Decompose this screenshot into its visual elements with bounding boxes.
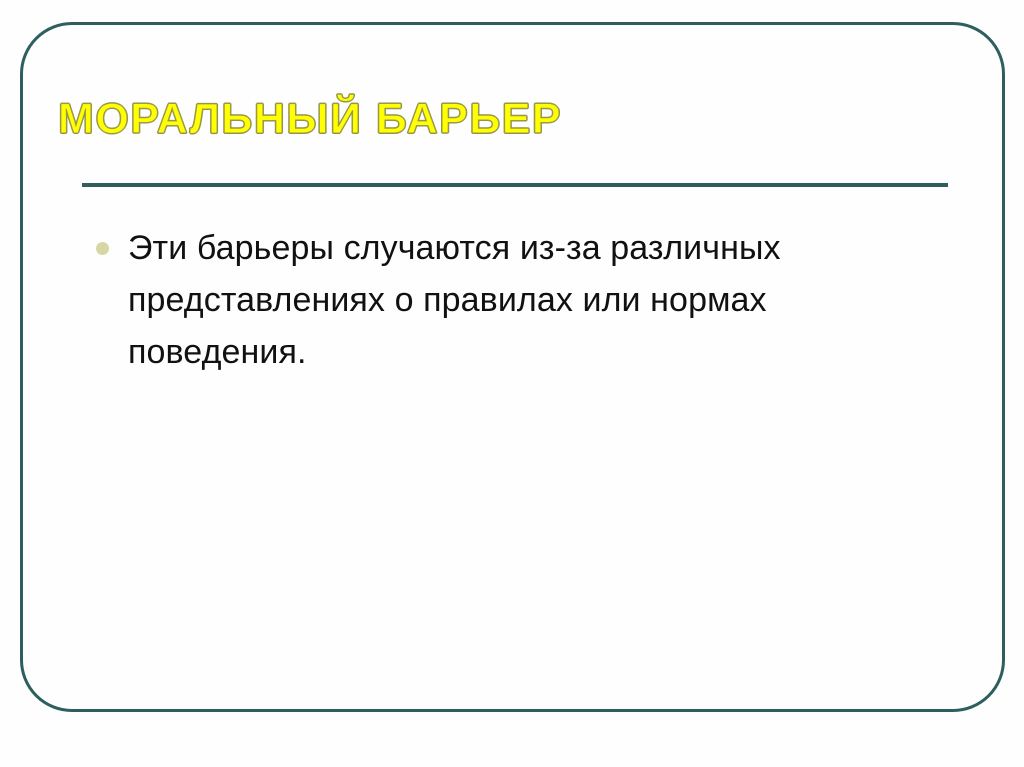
bullet-item-text: Эти барьеры случаются из-за различных пр…: [128, 222, 898, 378]
disc-bullet-icon: [96, 242, 109, 255]
title-divider-rule: [82, 183, 948, 187]
slide-body-bullet-list: Эти барьеры случаются из-за различных пр…: [90, 222, 940, 378]
slide-title: МОРАЛЬНЫЙ БАРЬЕР: [58, 97, 958, 142]
presentation-slide: МОРАЛЬНЫЙ БАРЬЕР Эти барьеры случаются и…: [0, 0, 1024, 767]
list-item: Эти барьеры случаются из-за различных пр…: [90, 222, 940, 378]
